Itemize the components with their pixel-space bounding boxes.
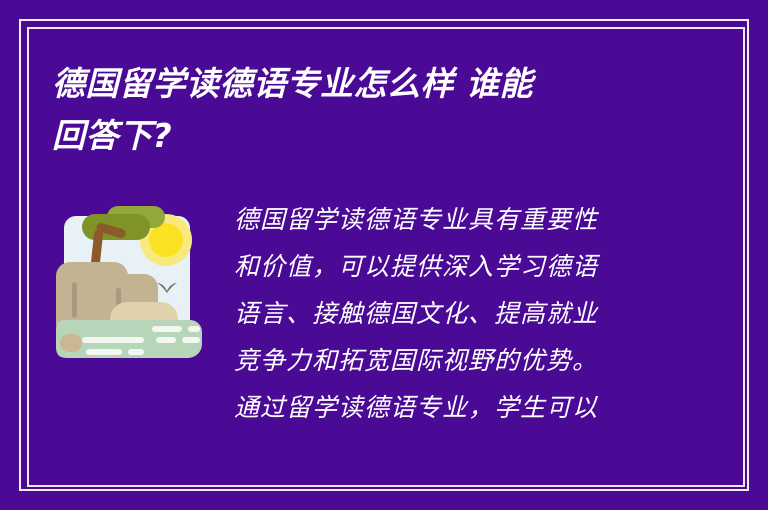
water-ripple-icon	[182, 337, 200, 343]
body-paragraph: 德国留学读德语专业具有重要性 和价值，可以提供深入学习德语 语言、接触德国文化、…	[212, 196, 716, 431]
water-ripple-icon	[86, 349, 122, 355]
bird-icon	[156, 282, 178, 294]
title-line-2: 回答下?	[52, 110, 692, 162]
poster-canvas: 德国留学读德语专业怎么样 谁能 回答下?	[0, 0, 768, 510]
body-line-5: 通过留学读德语专业，学生可以	[234, 384, 716, 431]
body-line-4: 竞争力和拓宽国际视野的优势。	[234, 337, 716, 384]
landscape-illustration	[52, 206, 202, 358]
water-ripple-icon	[188, 326, 200, 332]
page-title: 德国留学读德语专业怎么样 谁能 回答下?	[52, 58, 692, 162]
content-area: 德国留学读德语专业具有重要性 和价值，可以提供深入学习德语 语言、接触德国文化、…	[52, 196, 716, 431]
rock-crevice-icon	[72, 282, 77, 318]
body-line-3: 语言、接触德国文化、提高就业	[234, 290, 716, 337]
water-ripple-icon	[128, 349, 144, 355]
water-ripple-icon	[152, 326, 182, 332]
water-ripple-icon	[82, 337, 144, 343]
title-line-1: 德国留学读德语专业怎么样 谁能	[52, 58, 692, 110]
body-line-1: 德国留学读德语专业具有重要性	[234, 196, 716, 243]
body-line-2: 和价值，可以提供深入学习德语	[234, 243, 716, 290]
pebble-icon	[60, 334, 82, 352]
water-ripple-icon	[156, 337, 176, 343]
illustration-container	[52, 196, 212, 358]
sun-icon	[149, 223, 183, 257]
